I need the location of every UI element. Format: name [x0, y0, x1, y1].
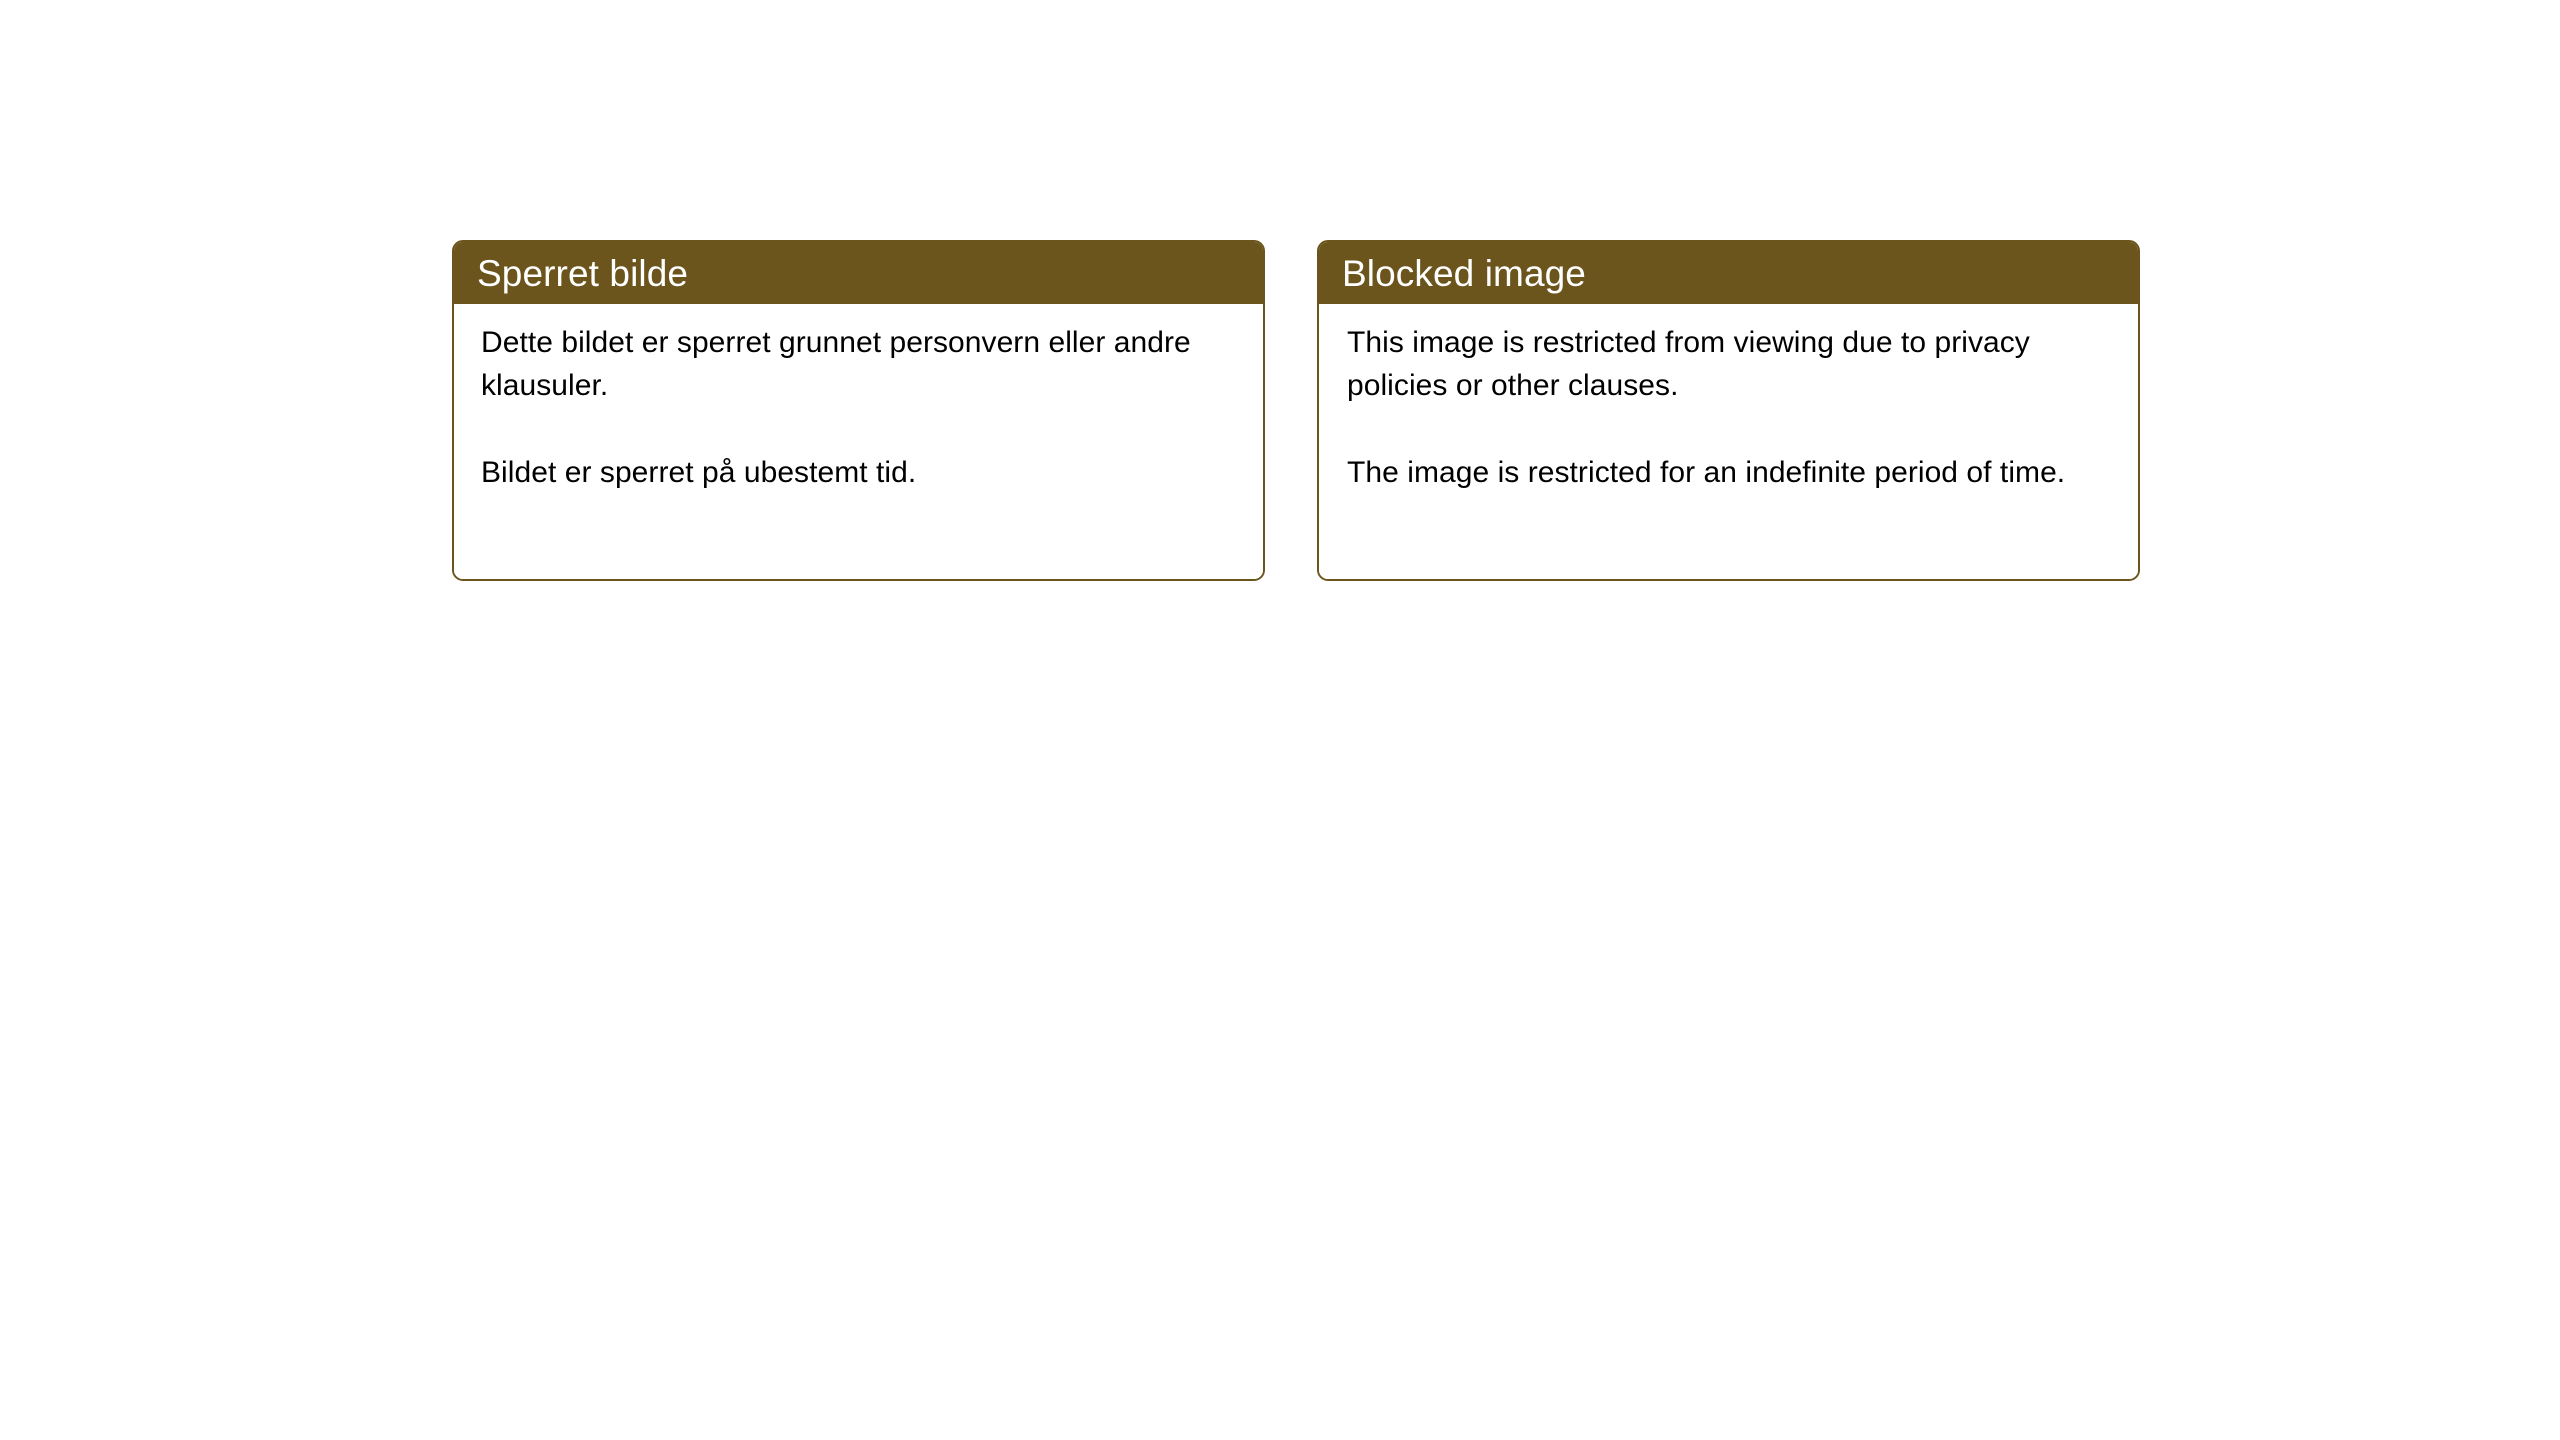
card-paragraph-duration-english: The image is restricted for an indefinit… [1347, 451, 2120, 494]
card-paragraph-reason-english: This image is restricted from viewing du… [1347, 321, 2120, 407]
card-title-english: Blocked image [1342, 255, 1586, 292]
page-background: Sperret bilde Dette bildet er sperret gr… [0, 0, 2560, 1440]
card-body-english: This image is restricted from viewing du… [1319, 304, 2138, 579]
card-paragraph-reason-norwegian: Dette bildet er sperret grunnet personve… [481, 321, 1241, 407]
card-title-norwegian: Sperret bilde [477, 255, 688, 292]
blocked-image-notice-card-english: Blocked image This image is restricted f… [1317, 240, 2140, 581]
card-header-english: Blocked image [1319, 242, 2138, 304]
blocked-image-notice-card-norwegian: Sperret bilde Dette bildet er sperret gr… [452, 240, 1265, 581]
card-paragraph-duration-norwegian: Bildet er sperret på ubestemt tid. [481, 451, 1241, 494]
card-body-norwegian: Dette bildet er sperret grunnet personve… [454, 304, 1263, 579]
card-header-norwegian: Sperret bilde [454, 242, 1263, 304]
